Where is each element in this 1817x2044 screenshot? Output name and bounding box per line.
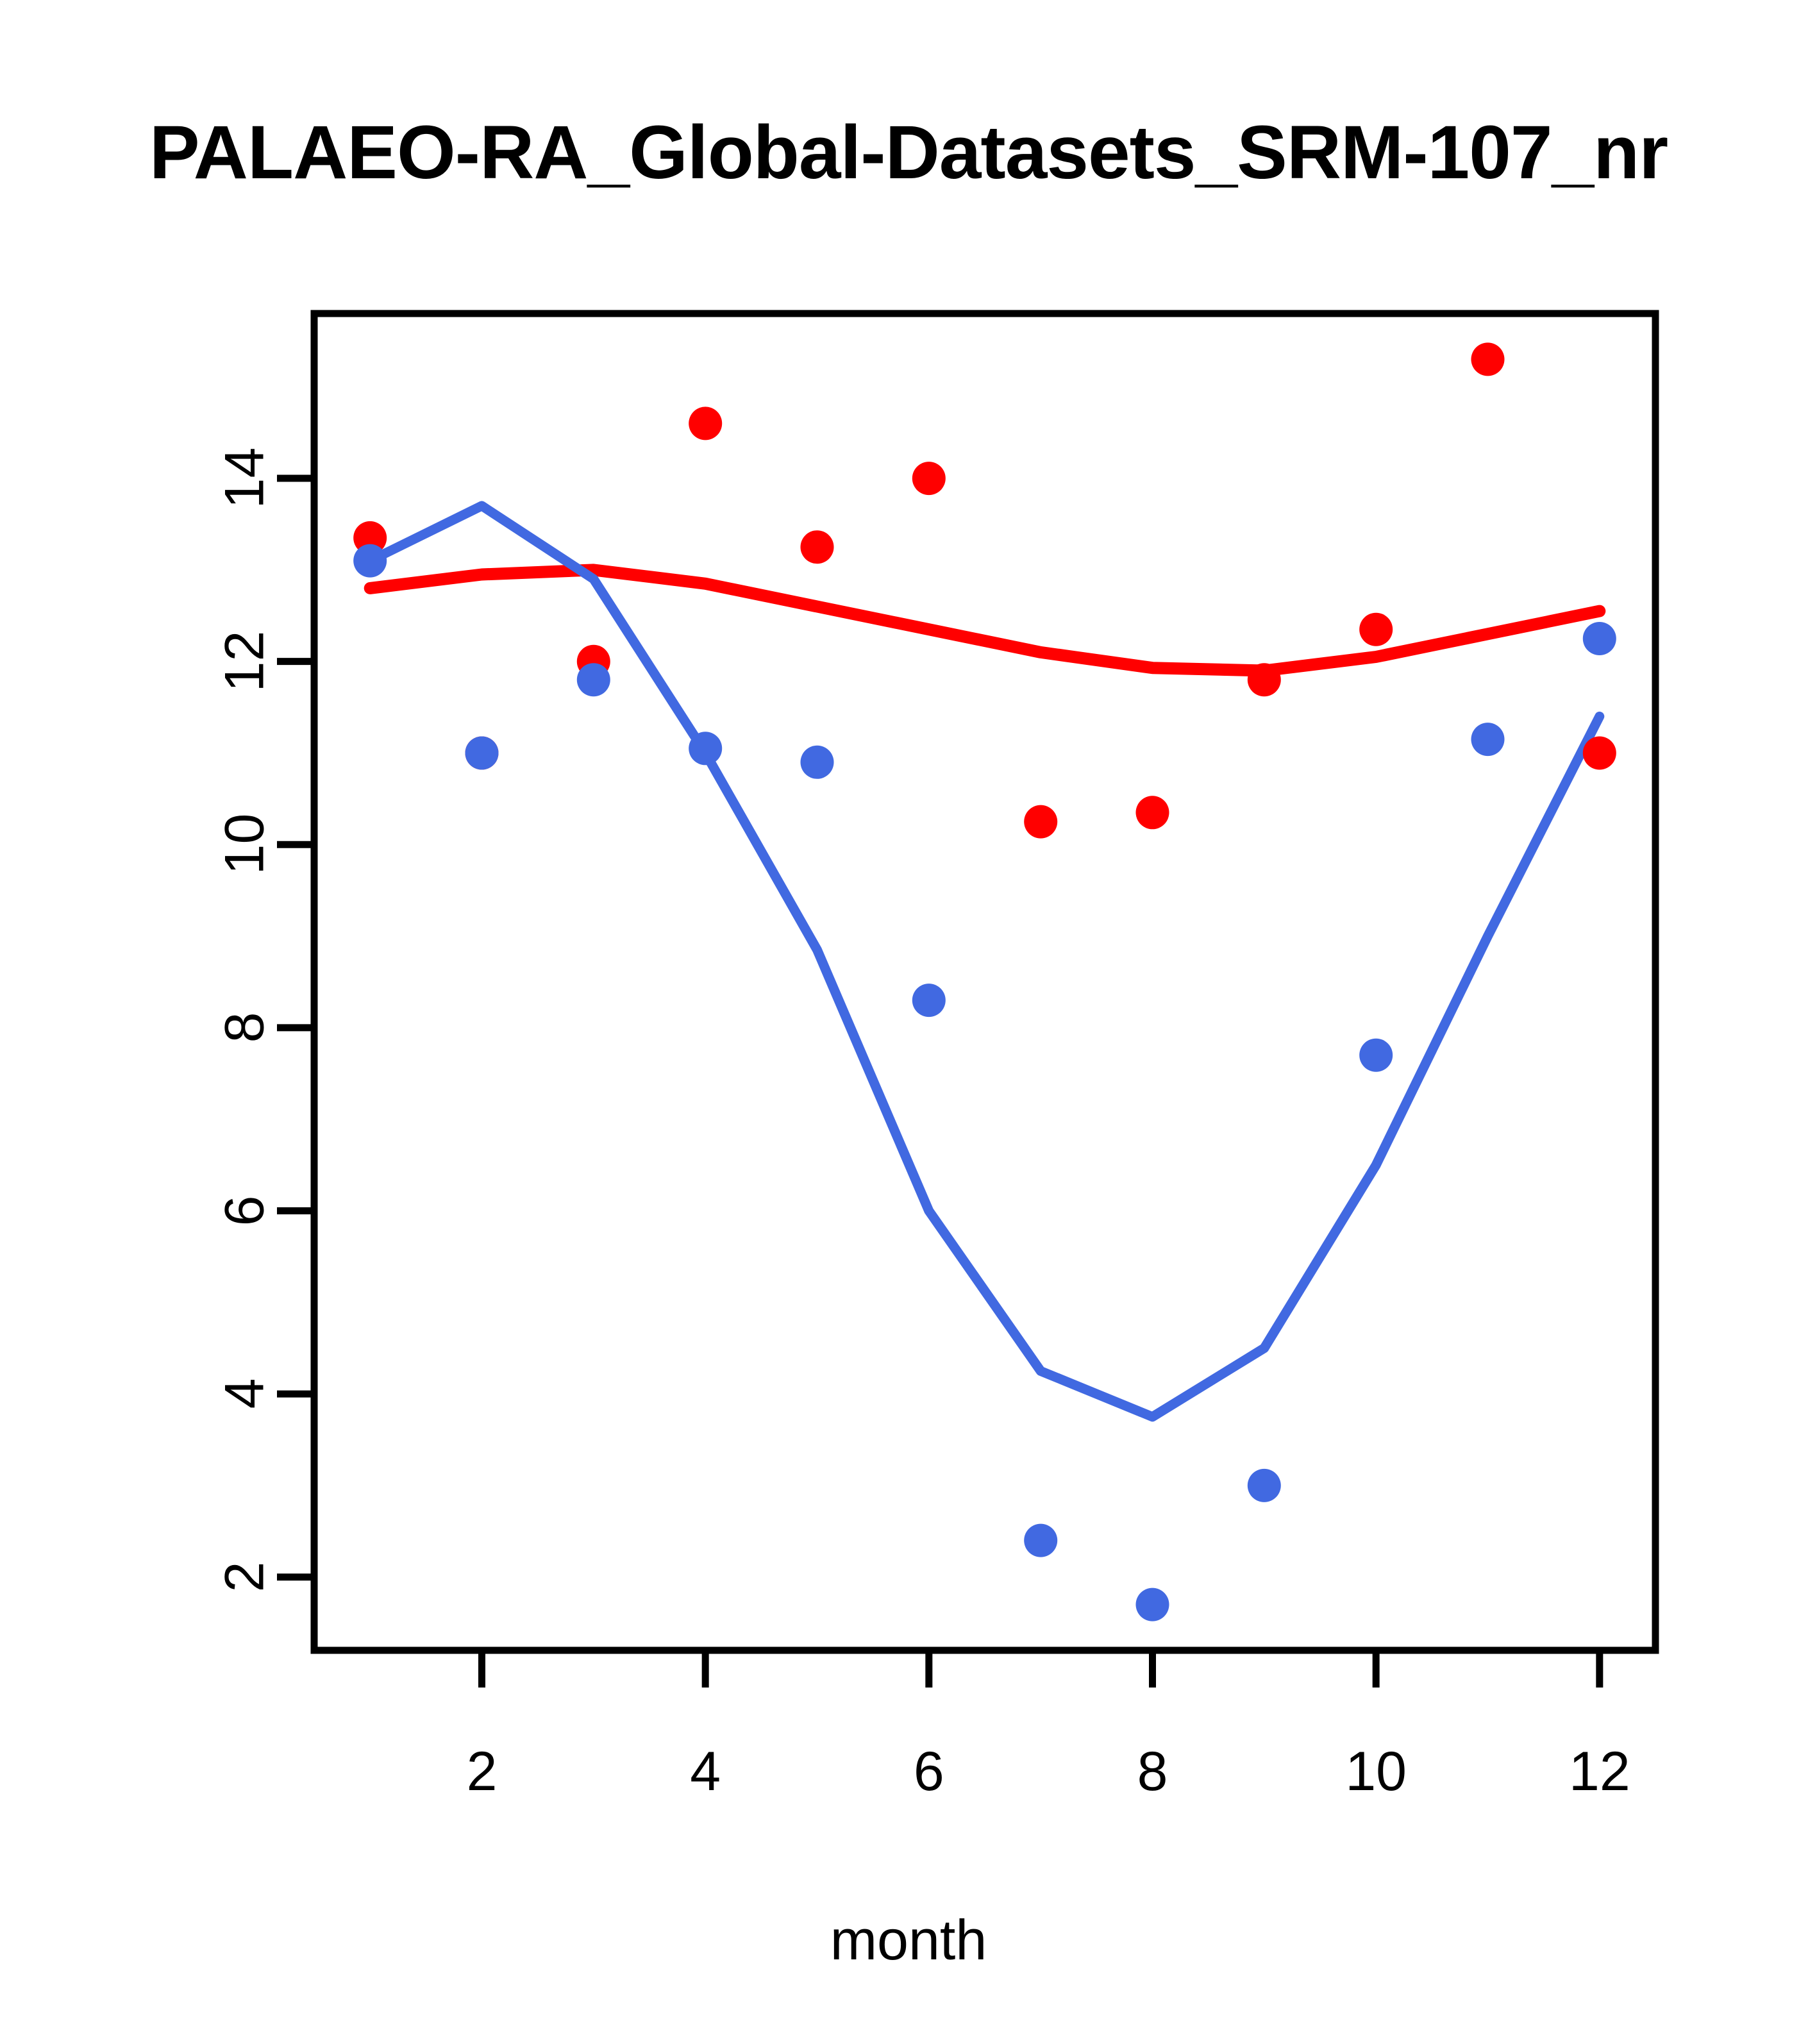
data-point-blue-points (912, 984, 946, 1017)
data-point-red-points (689, 406, 722, 440)
y-tick-label: 8 (214, 963, 277, 1091)
data-point-blue-points (353, 544, 387, 578)
y-tick-label: 4 (214, 1330, 277, 1458)
data-point-blue-points (1136, 1588, 1169, 1621)
data-point-red-points (801, 530, 834, 564)
data-point-blue-points (1583, 622, 1616, 655)
data-point-blue-points (801, 746, 834, 779)
data-point-blue-points (1359, 1039, 1393, 1072)
y-tick-label: 6 (214, 1146, 277, 1275)
y-tick-label: 12 (214, 597, 277, 725)
x-tick-label: 6 (852, 1740, 1006, 1804)
data-point-red-points (1359, 613, 1393, 646)
y-axis-ticks (277, 478, 314, 1577)
series-lines (370, 506, 1600, 1417)
y-tick-label: 10 (214, 780, 277, 909)
x-axis-ticks (482, 1650, 1600, 1688)
x-tick-label: 2 (405, 1740, 559, 1804)
data-point-red-points (1248, 663, 1281, 696)
x-tick-label: 8 (1076, 1740, 1230, 1804)
series-points (353, 342, 1616, 1621)
data-point-blue-points (1248, 1469, 1281, 1502)
plot-frame (314, 314, 1655, 1650)
x-tick-label: 4 (628, 1740, 782, 1804)
data-point-blue-points (1024, 1524, 1057, 1557)
x-tick-label: 10 (1299, 1740, 1453, 1804)
data-point-red-points (1471, 342, 1505, 376)
chart-page: PALAEO-RA_Global-Datasets_SRM-107_nr 246… (0, 0, 1817, 2044)
data-point-red-points (912, 462, 946, 495)
data-point-blue-points (1471, 723, 1505, 756)
y-tick-label: 14 (214, 414, 277, 542)
data-point-blue-points (689, 732, 722, 765)
y-tick-label: 2 (214, 1512, 277, 1641)
data-point-red-points (1136, 796, 1169, 829)
data-point-blue-points (577, 663, 610, 696)
series-line-red-line (370, 570, 1600, 671)
data-point-blue-points (465, 737, 499, 770)
data-point-red-points (1583, 737, 1616, 770)
x-axis-label: month (0, 1907, 1817, 1973)
data-point-red-points (1024, 805, 1057, 839)
x-tick-label: 12 (1523, 1740, 1677, 1804)
